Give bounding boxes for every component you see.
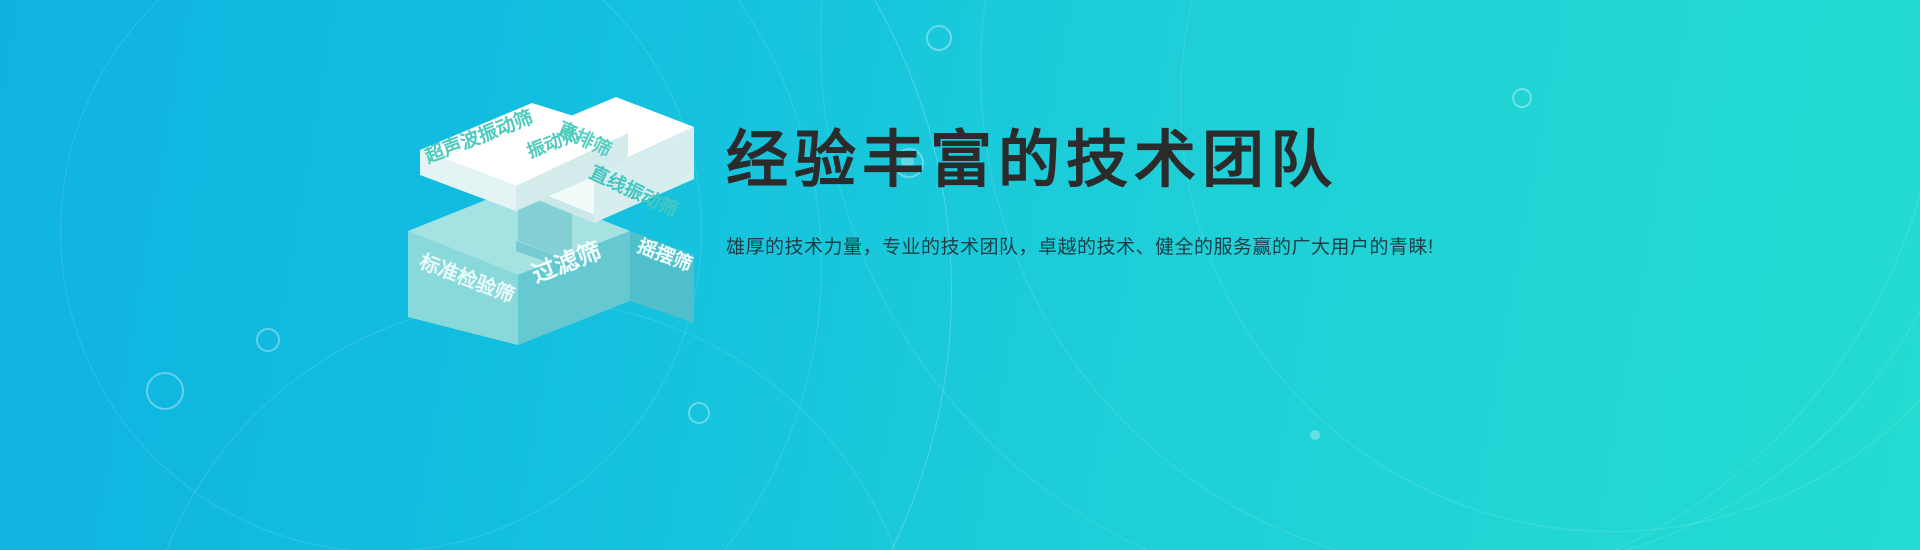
banner-copy: 经验丰富的技术团队 雄厚的技术力量，专业的技术团队，卓越的技术、健全的服务赢的广…: [726, 130, 1546, 257]
decor-dot-g: [1512, 88, 1532, 108]
decor-dot-d: [256, 328, 280, 352]
decor-dot-f: [688, 402, 710, 424]
page-subtitle: 雄厚的技术力量，专业的技术团队，卓越的技术、健全的服务赢的广大用户的青睐!: [726, 238, 1546, 257]
decor-dot-e: [146, 372, 184, 410]
decor-dot-h: [1310, 430, 1320, 440]
hero-banner: 超声波振动筛 直排筛 振动筛 直线振动筛 标准检验筛 过滤筛 摇摆筛 经验丰富的…: [0, 0, 1920, 550]
decor-dot-a: [926, 25, 952, 51]
page-title: 经验丰富的技术团队: [726, 130, 1546, 192]
cube-illustration: 超声波振动筛 直排筛 振动筛 直线振动筛 标准检验筛 过滤筛 摇摆筛: [398, 55, 728, 345]
